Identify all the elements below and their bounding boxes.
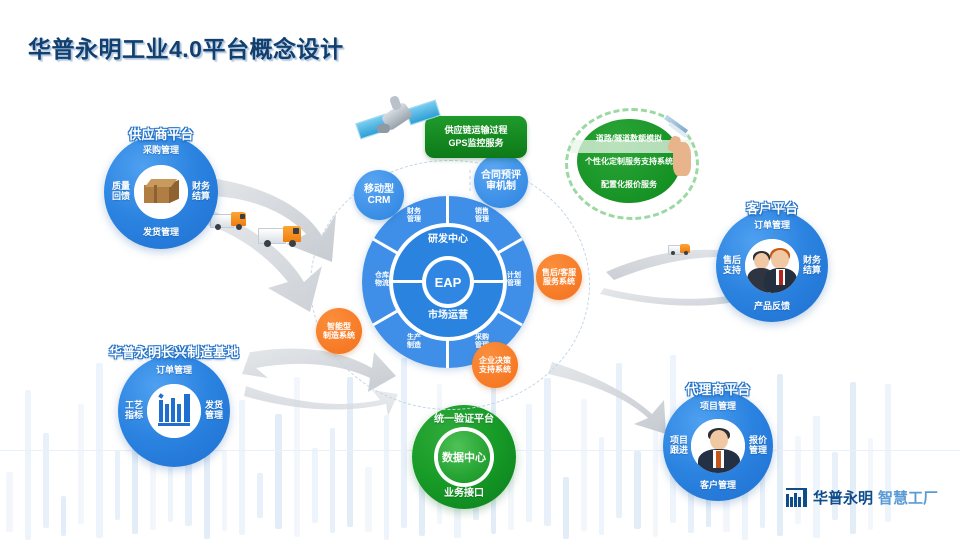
agent-platform-title: 代理商平台	[653, 379, 783, 398]
data-center-core: 数据中心	[438, 431, 490, 483]
base-icon-hole	[147, 384, 201, 438]
hub-bubble-aftersales[interactable]: 售后/客服 服务系统	[536, 254, 582, 300]
base-title: 华普永明长兴制造基地	[85, 342, 263, 361]
businessman-icon	[691, 419, 745, 473]
hand-with-pen-icon	[661, 122, 701, 180]
hub-ring-label-1: 销售 管理	[470, 208, 494, 223]
hub-inner-bottom-label: 市场运营	[408, 310, 488, 321]
data-center-platform[interactable]: 数据中心 统一验证平台 业务接口	[412, 405, 516, 509]
customer-platform[interactable]: 订单管理 售后 支持 财务 结算 产品反馈 客户平台	[716, 210, 828, 322]
supplier-platform[interactable]: 采购管理 质量 回馈 财务 结算 发货管理 供应商平台	[104, 135, 218, 249]
supplier-platform-title: 供应商平台	[101, 124, 221, 143]
hub-ring-label-4: 生产 制造	[402, 334, 426, 349]
supplier-icon-hole	[134, 165, 188, 219]
factory-icon	[147, 384, 201, 438]
customer-icon-hole	[745, 239, 799, 293]
factory-logo-icon	[786, 488, 808, 508]
eap-core-label: EAP	[435, 275, 462, 290]
service-line-3: 配置化报价服务	[577, 179, 681, 190]
hub-bubble-crm[interactable]: 移动型 CRM	[354, 170, 404, 220]
custom-service-oval: 道路/隧道数额模拟 个性化定制服务支持系统 配置化报价服务	[565, 108, 695, 216]
satellite-icon	[355, 92, 445, 167]
logo-suffix: 智慧工厂	[878, 487, 938, 508]
hub-bubble-smartmfg[interactable]: 智能型 制造系统	[316, 308, 362, 354]
agent-platform[interactable]: 项目管理 项目 跟进 报价 管理 客户管理 代理商平台	[663, 391, 773, 501]
data-center-core-label: 数据中心	[442, 449, 486, 465]
customer-platform-title: 客户平台	[712, 198, 832, 217]
eap-core: EAP	[426, 260, 470, 304]
slide-canvas: 华普永明工业4.0平台概念设计	[0, 0, 960, 540]
hub-ring-label-0: 财务 管理	[402, 208, 426, 223]
hub-bubble-decision[interactable]: 企业决策 支持系统	[472, 342, 518, 388]
manufacturing-base[interactable]: 订单管理 工艺 指标 发货 管理 华普永明长兴制造基地	[118, 355, 230, 467]
logo-brand: 华普永明	[813, 487, 873, 508]
truck-icon-2	[258, 226, 306, 252]
footer-logo: 华普永明 智慧工厂	[786, 487, 938, 508]
hub-ring-label-2: 计划 管理	[502, 272, 526, 287]
two-people-icon	[745, 239, 799, 293]
hub-ring-label-5: 仓库 物流	[370, 272, 394, 287]
truck-icon-3	[668, 243, 694, 257]
cardboard-box-icon	[140, 177, 182, 207]
page-title: 华普永明工业4.0平台概念设计	[28, 30, 343, 64]
hub-bubble-contract[interactable]: 合同预评 审机制	[474, 154, 528, 208]
eap-hub[interactable]: EAP 研发中心 市场运营 财务 管理 销售 管理 计划 管理 采购 管理 生产…	[338, 182, 560, 382]
hub-inner-top-label: 研发中心	[408, 234, 488, 245]
agent-icon-hole	[691, 419, 745, 473]
